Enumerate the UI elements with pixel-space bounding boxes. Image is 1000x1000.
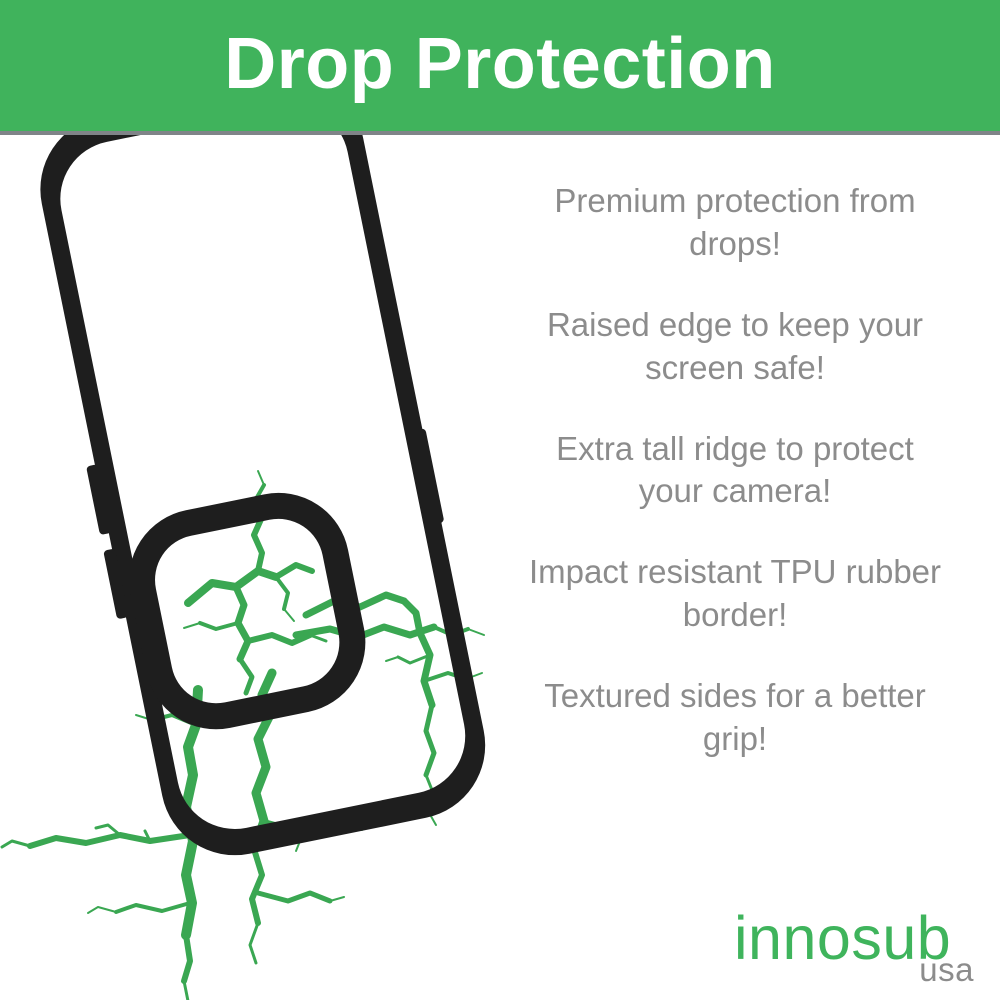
- phone-case-illustration: [0, 135, 500, 1000]
- feature-item-impact-resistant: Impact resistant TPU rubber border!: [525, 551, 945, 637]
- feature-item-raised-edge: Raised edge to keep your screen safe!: [525, 304, 945, 390]
- feature-item-textured-sides: Textured sides for a better grip!: [525, 675, 945, 761]
- logo-subtext: usa: [919, 953, 974, 986]
- product-feature-graphic: Drop Protection: [0, 0, 1000, 1000]
- header-banner: Drop Protection: [0, 0, 1000, 131]
- feature-item-tall-ridge: Extra tall ridge to protect your camera!: [525, 428, 945, 514]
- feature-list: Premium protection from drops! Raised ed…: [500, 180, 970, 761]
- page-title: Drop Protection: [224, 28, 776, 100]
- feature-item-premium-protection: Premium protection from drops!: [525, 180, 945, 266]
- crack-network: [2, 471, 484, 1000]
- phone-case-svg: [0, 135, 500, 1000]
- brand-logo: innosub usa: [726, 908, 976, 992]
